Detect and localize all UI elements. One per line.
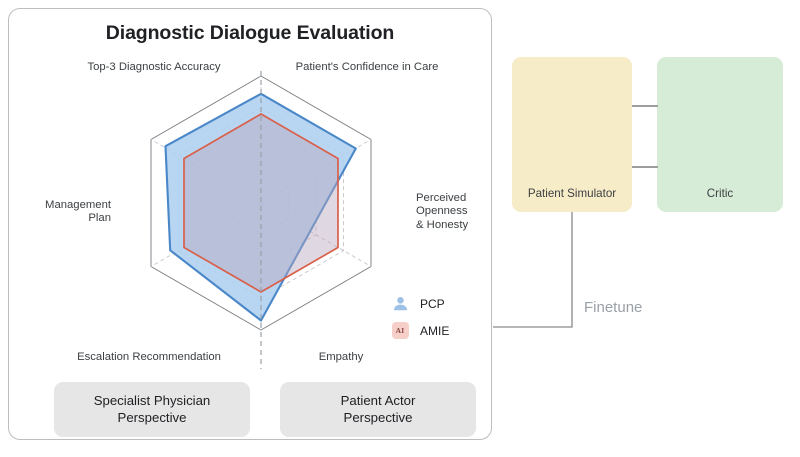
specialist-physician-perspective-box: Specialist Physician Perspective: [54, 382, 250, 437]
chart-legend: PCP AI AMIE: [390, 293, 490, 347]
evaluation-card: Diagnostic Dialogue Evaluation: [8, 8, 492, 440]
legend-item-pcp: PCP: [390, 293, 490, 314]
patient-simulator-label: Patient Simulator: [512, 187, 632, 200]
axis-label-escalation-recommendation: Escalation Recommendation: [59, 351, 239, 364]
ai-badge-icon: AI: [390, 321, 410, 341]
series-pcp-area: [184, 114, 338, 292]
axis-label-perceived-openness: Perceived Openness & Honesty: [416, 192, 492, 232]
axis-label-patients-confidence: Patient's Confidence in Care: [277, 61, 457, 74]
finetune-connector: [492, 212, 574, 330]
ai-badge-text: AI: [392, 322, 409, 339]
critic-label: Critic: [657, 187, 783, 200]
finetune-label: Finetune: [584, 299, 642, 316]
axis-label-empathy: Empathy: [291, 351, 391, 364]
legend-label-pcp: PCP: [420, 297, 445, 311]
radar-grid: [151, 76, 371, 330]
figure-root: Diagnostic Dialogue Evaluation: [0, 0, 800, 457]
patient-actor-perspective-box: Patient Actor Perspective: [280, 382, 476, 437]
connector-line-top: [632, 105, 658, 107]
axis-label-management-plan: Management Plan: [23, 199, 111, 226]
axis-label-top3-diagnostic-accuracy: Top-3 Diagnostic Accuracy: [69, 61, 239, 74]
legend-item-amie: AI AMIE: [390, 320, 490, 341]
page-title: Diagnostic Dialogue Evaluation: [9, 22, 491, 45]
patient-simulator-box: Patient Simulator: [512, 57, 632, 212]
connector-line-bottom: [632, 166, 658, 168]
series-amie-area: [166, 94, 356, 321]
critic-box: Critic: [657, 57, 783, 212]
legend-label-amie: AMIE: [420, 324, 449, 338]
person-icon: [390, 294, 410, 314]
